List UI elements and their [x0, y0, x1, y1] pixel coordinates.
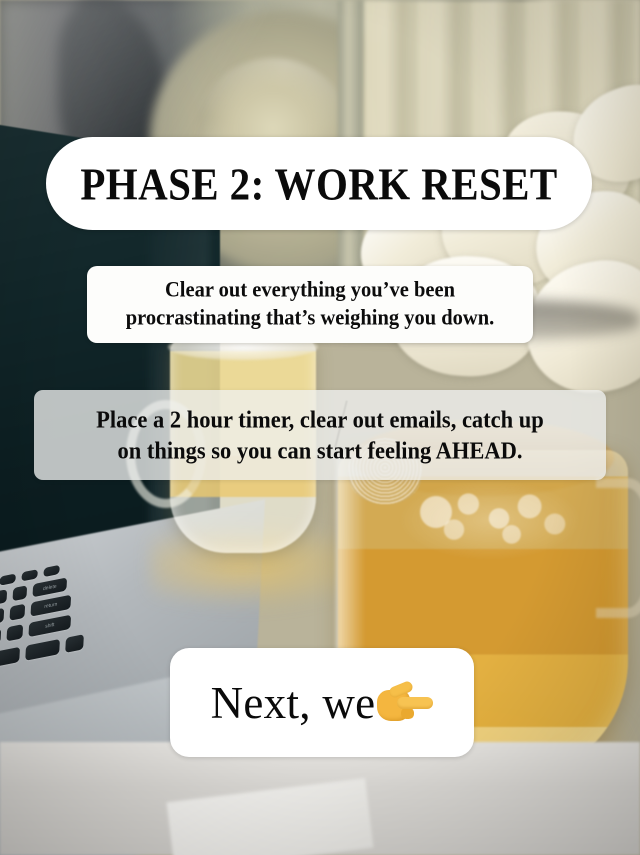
subtitle-line-2: procrastinating that’s weighing you down…	[126, 304, 494, 333]
cta-card: Next, we	[170, 648, 474, 757]
body-line-1: Place a 2 hour timer, clear out emails, …	[96, 403, 544, 436]
text-overlay-layer: PHASE 2: WORK RESET Clear out everything…	[0, 0, 640, 855]
cta-label: Next, we	[211, 677, 376, 729]
backhand-index-pointing-right-emoji	[377, 682, 433, 724]
body-line-2: on things so you can start feeling AHEAD…	[117, 434, 522, 467]
subtitle-line-1: Clear out everything you’ve been	[165, 277, 455, 306]
body-card: Place a 2 hour timer, clear out emails, …	[34, 390, 606, 480]
emoji-index-finger	[397, 697, 433, 709]
subtitle-card: Clear out everything you’ve been procras…	[87, 266, 533, 343]
page-title: PHASE 2: WORK RESET	[80, 157, 557, 211]
instagram-story-slide: delete P return shift option	[0, 0, 640, 855]
cta-text-row: Next, we	[211, 677, 434, 729]
title-pill: PHASE 2: WORK RESET	[46, 137, 592, 230]
